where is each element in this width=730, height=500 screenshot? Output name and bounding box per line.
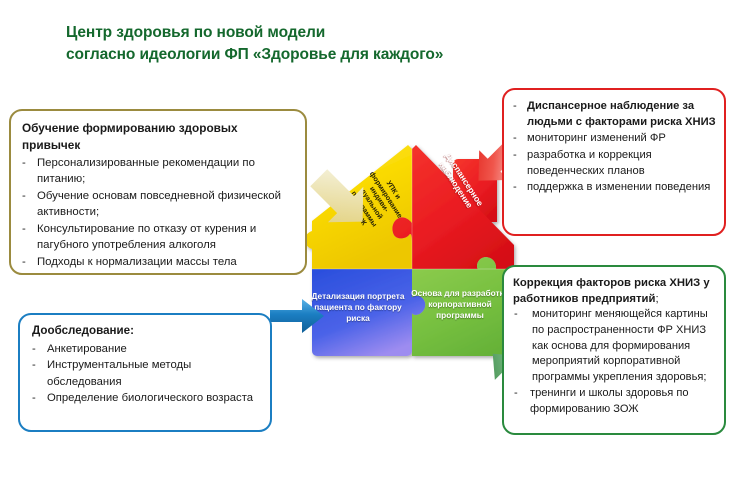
list-item: - Инструментальные методы обследования: [32, 357, 262, 390]
puzzle-piece-blue: [312, 269, 425, 356]
list-item: - разработка и коррекция поведенческих п…: [513, 147, 716, 179]
callout-correction-list: - мониторинг меняющейся картины по распр…: [513, 307, 716, 417]
page-title: Центр здоровья по новой модели согласно …: [66, 22, 626, 67]
callout-examination-list: - Анкетирование - Инструментальные метод…: [32, 341, 262, 407]
page-title-line-1: Центр здоровья по новой модели: [66, 24, 325, 41]
list-item: - Анкетирование: [32, 341, 262, 357]
list-item-text: мониторинг изменений ФР: [527, 130, 716, 146]
callout-correction-heading-tail: ;: [655, 293, 658, 305]
list-item: - Обучение основам повседневной физическ…: [22, 188, 295, 221]
callout-dispensary[interactable]: - Диспансерное наблюдение за людьми с фа…: [502, 88, 726, 236]
list-item-text: Анкетирование: [47, 341, 262, 357]
list-item-text: Определение биологического возраста: [47, 390, 262, 406]
list-item: - Определение биологического возраста: [32, 390, 262, 406]
bullet-dash: -: [513, 147, 517, 163]
bullet-dash: -: [514, 307, 518, 323]
bullet-dash: -: [22, 221, 26, 237]
list-item: - мониторинг изменений ФР: [513, 130, 716, 146]
bullet-dash: -: [22, 155, 26, 171]
page-title-line-2: согласно идеологии ФП «Здоровье для кажд…: [66, 44, 626, 66]
puzzle-piece-green: [412, 257, 514, 356]
list-item-text: Диспансерное наблюдение за людьми с факт…: [527, 98, 716, 130]
callout-examination[interactable]: Дообследование: - Анкетирование - Инстру…: [18, 313, 272, 432]
bullet-dash: -: [514, 386, 518, 402]
list-item: - Диспансерное наблюдение за людьми с фа…: [513, 98, 716, 130]
bullet-dash: -: [513, 130, 517, 146]
bullet-dash: -: [513, 98, 517, 114]
bullet-dash: -: [32, 357, 36, 373]
callout-correction[interactable]: Коррекция факторов риска ХНИЗ у работник…: [502, 265, 726, 435]
callout-correction-heading-bold: Коррекция факторов риска ХНИЗ у работник…: [513, 277, 710, 305]
list-item-text: тренинги и школы здоровья по формировани…: [530, 386, 716, 418]
puzzle-house-diagram: [300, 137, 520, 367]
bullet-dash: -: [22, 188, 26, 204]
bullet-dash: -: [32, 390, 36, 406]
bullet-dash: -: [513, 179, 517, 195]
callout-examination-heading: Дообследование:: [32, 323, 262, 340]
callout-training-heading: Обучение формированию здоровых привычек: [22, 120, 295, 154]
list-item: - тренинги и школы здоровья по формирова…: [513, 386, 716, 418]
callout-training-list: - Персонализированные рекомендации по пи…: [22, 155, 295, 271]
callout-dispensary-list: - Диспансерное наблюдение за людьми с фа…: [513, 98, 716, 195]
bullet-dash: -: [22, 254, 26, 270]
list-item-text: Инструментальные методы обследования: [47, 357, 262, 390]
list-item: - Подходы к нормализации массы тела: [22, 254, 295, 270]
list-item: - Консультирование по отказу от курения …: [22, 221, 295, 254]
list-item: - мониторинг меняющейся картины по распр…: [513, 307, 716, 386]
list-item-text: мониторинг меняющейся картины по распрос…: [530, 307, 716, 386]
list-item-text: Персонализированные рекомендации по пита…: [37, 155, 295, 188]
puzzle-piece-yellow: [305, 145, 412, 269]
slide-canvas: Центр здоровья по новой модели согласно …: [0, 0, 730, 500]
list-item-text: Обучение основам повседневной физической…: [37, 188, 295, 221]
list-item-text: Консультирование по отказу от курения и …: [37, 221, 295, 254]
list-item-text: поддержка в изменении поведения: [527, 179, 716, 195]
bullet-dash: -: [32, 341, 36, 357]
list-item-text: Подходы к нормализации массы тела: [37, 254, 295, 270]
callout-training[interactable]: Обучение формированию здоровых привычек …: [9, 109, 307, 275]
list-item: - Персонализированные рекомендации по пи…: [22, 155, 295, 188]
puzzle-house-svg: [300, 137, 520, 367]
list-item-text: разработка и коррекция поведенческих пла…: [527, 147, 716, 179]
callout-correction-heading: Коррекция факторов риска ХНИЗ у работник…: [513, 275, 716, 307]
list-item: - поддержка в изменении поведения: [513, 179, 716, 195]
